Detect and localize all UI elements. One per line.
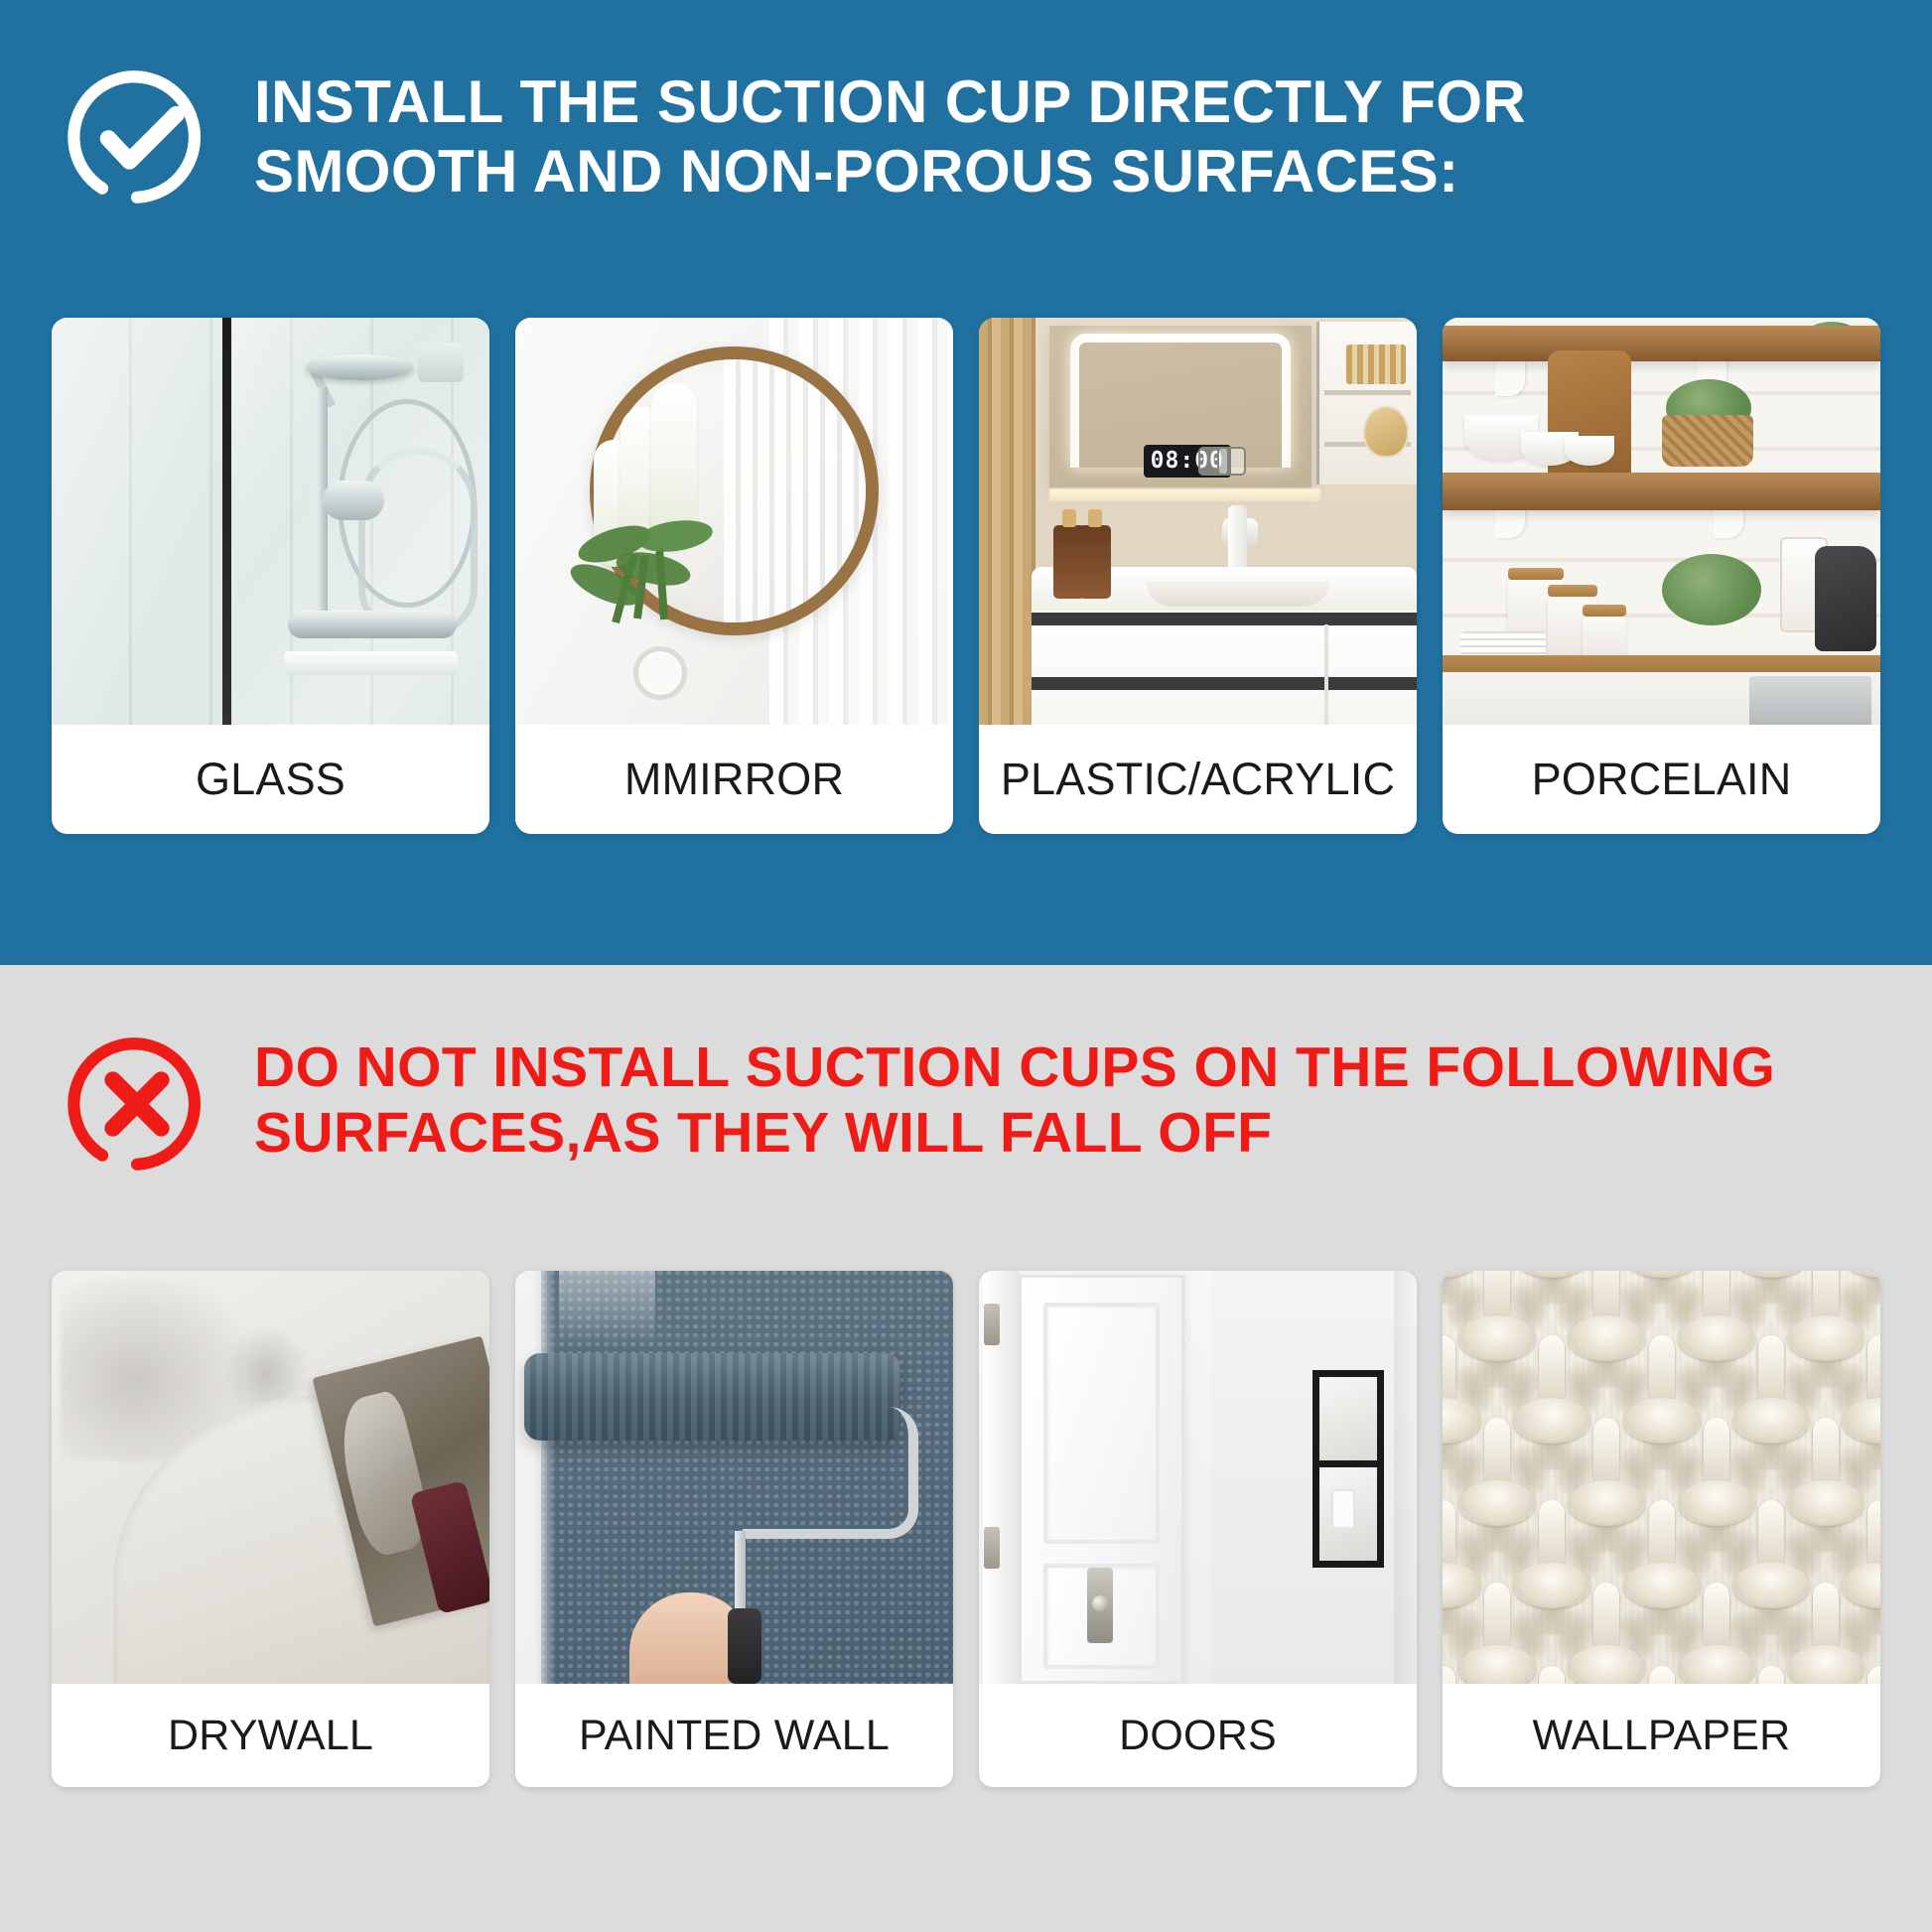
acrylic-bathroom-vanity-photo: 08:00 xyxy=(979,318,1417,725)
sink-basin xyxy=(1146,581,1329,607)
potted-plant xyxy=(1662,554,1761,625)
glass-door-divider xyxy=(222,318,231,725)
glass-shower-enclosure-photo xyxy=(52,318,489,725)
shower-shelf xyxy=(284,651,458,675)
hallway-wall xyxy=(1211,1271,1417,1684)
door-handle xyxy=(1087,1568,1113,1643)
led-mirror: 08:00 xyxy=(1049,326,1312,488)
wood-shelf xyxy=(1443,473,1880,510)
allowed-card-grid: GLASS MMI xyxy=(52,318,1880,834)
paint-roller-blue-grey-wall-photo xyxy=(515,1271,953,1684)
round-wood-framed-mirror-photo xyxy=(515,318,953,725)
shower-plant-pot xyxy=(418,343,464,382)
forbidden-card-grid: DRYWALL PAINTED WALL xyxy=(52,1271,1880,1787)
surface-label-doors: DOORS xyxy=(979,1684,1417,1787)
paint-edge xyxy=(533,1271,555,1684)
drawer-handle-line xyxy=(1032,677,1417,690)
forbidden-header: DO NOT INSTALL SUCTION CUPS ON THE FOLLO… xyxy=(62,1029,1878,1179)
instruction-poster: INSTALL THE SUCTION CUP DIRECTLY FOR SMO… xyxy=(0,0,1932,1932)
wall-hook xyxy=(633,646,687,700)
embossed-damask-wallpaper-photo xyxy=(1443,1271,1880,1684)
allowed-heading: INSTALL THE SUCTION CUP DIRECTLY FOR SMO… xyxy=(254,62,1526,206)
damask-motif xyxy=(1608,1651,1716,1684)
drywall-trowel-joint-compound-photo xyxy=(52,1271,489,1684)
drawer-handle-line xyxy=(1032,613,1417,625)
wall-shadow xyxy=(1394,1271,1417,1684)
surface-card-mirror: MMIRROR xyxy=(515,318,953,834)
roller-frame xyxy=(743,1407,917,1539)
allowed-header: INSTALL THE SUCTION CUP DIRECTLY FOR SMO… xyxy=(62,62,1878,212)
wall-slats xyxy=(979,318,1035,725)
shower-mixer xyxy=(288,611,457,638)
check-circle-icon xyxy=(62,62,212,212)
door-hinge xyxy=(984,1304,1000,1345)
door-hinge xyxy=(984,1527,1000,1569)
shelf-cabinet xyxy=(1316,322,1417,484)
mirror-power-button[interactable] xyxy=(1217,447,1246,476)
surface-label-porcelain: PORCELAIN xyxy=(1443,725,1880,834)
cabinet-seam xyxy=(1324,624,1328,725)
shelf-line xyxy=(1324,390,1411,395)
door-panel xyxy=(1043,1303,1159,1544)
soap-dispenser xyxy=(1079,525,1111,599)
surface-card-doors: DOORS xyxy=(979,1271,1417,1787)
allowed-heading-line-1: INSTALL THE SUCTION CUP DIRECTLY FOR xyxy=(254,68,1526,137)
light-switch xyxy=(1331,1489,1355,1529)
surface-label-drywall: DRYWALL xyxy=(52,1684,489,1787)
surface-card-glass: GLASS xyxy=(52,318,489,834)
damask-motif xyxy=(1827,1651,1880,1684)
surface-card-wallpaper: WALLPAPER xyxy=(1443,1271,1880,1787)
damask-pattern xyxy=(1443,1271,1880,1684)
damask-motif xyxy=(1718,1651,1825,1684)
surface-label-plastic-acrylic: PLASTIC/ACRYLIC xyxy=(979,725,1417,834)
x-circle-icon xyxy=(62,1029,212,1179)
surface-label-mirror: MMIRROR xyxy=(515,725,953,834)
shower-head xyxy=(306,354,413,380)
surface-label-painted-wall: PAINTED WALL xyxy=(515,1684,953,1787)
damask-motif xyxy=(1498,1651,1605,1684)
forbidden-heading: DO NOT INSTALL SUCTION CUPS ON THE FOLLO… xyxy=(254,1029,1775,1166)
shower-hose xyxy=(358,448,478,636)
surface-label-wallpaper: WALLPAPER xyxy=(1443,1684,1880,1787)
surface-card-plastic-acrylic: 08:00 PL xyxy=(979,318,1417,834)
surface-card-porcelain: PORCELAIN xyxy=(1443,318,1880,834)
surface-card-drywall: DRYWALL xyxy=(52,1271,489,1787)
wood-shelf xyxy=(1443,326,1880,361)
panel-door xyxy=(1019,1275,1185,1684)
stand-mixer xyxy=(1815,546,1876,651)
shower-valve xyxy=(323,481,384,520)
door-jamb xyxy=(983,1271,1018,1684)
damask-motif xyxy=(1443,1651,1496,1684)
allowed-surfaces-section: INSTALL THE SUCTION CUP DIRECTLY FOR SMO… xyxy=(0,0,1932,965)
forbidden-heading-line-2: SURFACES,AS THEY WILL FALL OFF xyxy=(254,1100,1775,1166)
dishwasher-front xyxy=(1749,676,1871,725)
surface-label-glass: GLASS xyxy=(52,725,489,834)
woven-basket xyxy=(1662,415,1753,467)
porcelain-bowl xyxy=(1565,436,1614,466)
thin-paint-band xyxy=(559,1271,655,1345)
perfume-bottle xyxy=(1363,406,1409,458)
roller-grip xyxy=(728,1608,761,1684)
allowed-heading-line-2: SMOOTH AND NON-POROUS SURFACES: xyxy=(254,137,1526,207)
surface-card-painted-wall: PAINTED WALL xyxy=(515,1271,953,1787)
vanity-cabinet xyxy=(1032,611,1417,725)
forbidden-heading-line-1: DO NOT INSTALL SUCTION CUPS ON THE FOLLO… xyxy=(254,1035,1775,1100)
under-mirror-glow xyxy=(1049,488,1320,501)
porcelain-kitchen-shelves-photo xyxy=(1443,318,1880,725)
white-panel-door-hallway-photo xyxy=(979,1271,1417,1684)
brush-set xyxy=(1346,345,1406,384)
